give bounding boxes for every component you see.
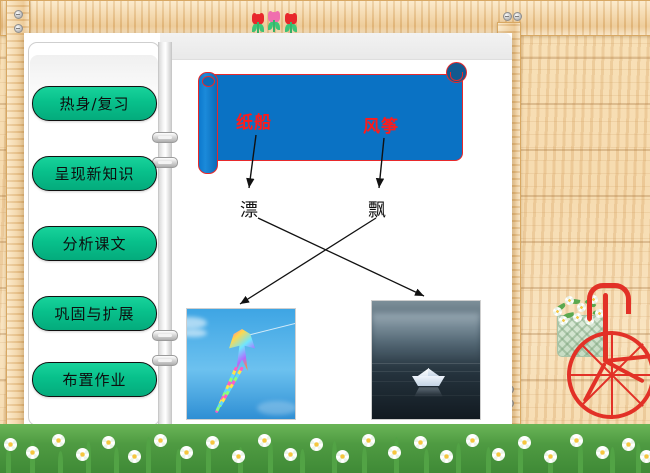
daisy-icon (284, 448, 297, 461)
tulip-decoration-group (252, 12, 298, 34)
daisy-icon (206, 436, 219, 449)
daisy-icon (102, 436, 115, 449)
scroll-banner: 纸船 风筝 (198, 62, 466, 172)
binder-ring-icon (152, 330, 178, 341)
daisy-icon (577, 303, 586, 312)
sidebar-item-assign-homework[interactable]: 布置作业 (32, 362, 157, 397)
daisy-icon (565, 296, 574, 305)
daisy-icon (336, 450, 349, 463)
sidebar-item-label: 分析课文 (62, 233, 126, 254)
paper-boat-shape (412, 369, 445, 386)
tulip-icon (285, 14, 297, 34)
sidebar-item-label: 热身/复习 (59, 93, 129, 114)
flower-grass-band (0, 424, 650, 473)
daisy-icon (362, 434, 375, 447)
sidebar-item-label: 巩固与扩展 (54, 303, 134, 324)
paper-boat-photo (371, 300, 481, 420)
binder-ring-icon (152, 132, 178, 143)
kite-body (229, 329, 255, 371)
kite-string (247, 322, 296, 336)
daisy-icon (258, 434, 271, 447)
daisy-icon (26, 446, 39, 459)
daisy-icon (232, 450, 245, 463)
screw-icon (14, 24, 23, 33)
binder-spine (158, 42, 172, 424)
sidebar-item-present-new-knowledge[interactable]: 呈现新知识 (32, 156, 157, 191)
tulip-icon (252, 14, 264, 34)
scroll-roll-left (198, 72, 218, 174)
daisy-icon (310, 438, 323, 451)
daisy-icon (388, 446, 401, 459)
binder-ring-icon (152, 355, 178, 366)
daisy-icon (128, 450, 141, 463)
daisy-icon (570, 434, 583, 447)
sidebar-item-analyze-text[interactable]: 分析课文 (32, 226, 157, 261)
daisy-icon (596, 446, 609, 459)
bicycle-decoration (543, 283, 647, 435)
daisy-icon (76, 448, 89, 461)
daisy-icon (52, 434, 65, 447)
screw-icon (513, 12, 522, 21)
tulip-icon (268, 12, 280, 32)
daisy-icon (492, 448, 505, 461)
daisy-icon (466, 434, 479, 447)
daisy-icon (622, 438, 635, 451)
daisy-icon (414, 436, 427, 449)
kite-photo (186, 308, 296, 420)
banner-word-kite: 风筝 (363, 112, 399, 137)
screw-icon (14, 10, 23, 19)
sidebar-item-consolidate-extend[interactable]: 巩固与扩展 (32, 296, 157, 331)
frame-board-top (0, 0, 650, 36)
bicycle-handlebar (587, 283, 631, 314)
screw-icon (503, 12, 512, 21)
daisy-icon (640, 450, 650, 463)
slide-header-strip (160, 33, 512, 60)
verb-piao-flutter: 飘 (368, 196, 386, 222)
daisy-icon (518, 436, 531, 449)
daisy-icon (573, 313, 582, 322)
daisy-icon (440, 450, 453, 463)
scroll-roll-knob (446, 62, 467, 83)
daisy-icon (559, 316, 568, 325)
daisy-icon (4, 438, 17, 451)
banner-word-paper-boat: 纸船 (236, 108, 272, 133)
bicycle-wheel (567, 331, 650, 419)
verb-piao-float: 漂 (240, 196, 258, 222)
sidebar-item-label: 呈现新知识 (54, 163, 134, 184)
daisy-icon (154, 434, 167, 447)
daisy-icon (180, 446, 193, 459)
daisy-icon (553, 307, 562, 316)
daisy-icon (544, 450, 557, 463)
slide-stage: 热身/复习 呈现新知识 分析课文 巩固与扩展 布置作业 纸船 风筝 漂 飘 (0, 0, 650, 473)
sidebar-item-warmup-review[interactable]: 热身/复习 (32, 86, 157, 121)
sidebar-item-label: 布置作业 (62, 369, 126, 390)
